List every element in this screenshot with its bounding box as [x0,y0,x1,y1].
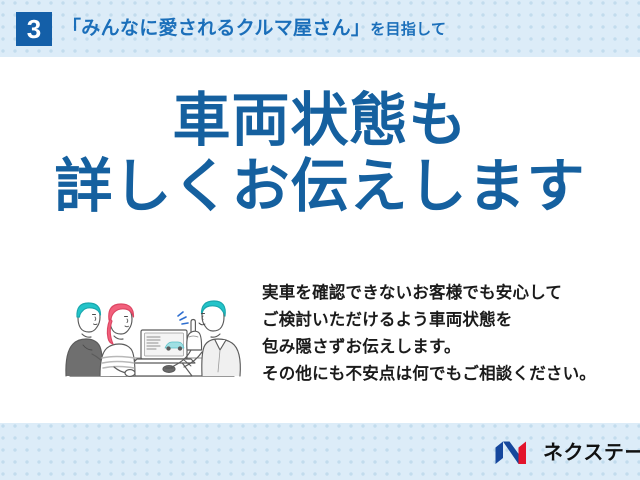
headline-line-1: 車両状態も [0,88,640,154]
lower-content: 実車を確認できないお客様でも安心して ご検討いただけるよう車両状態を 包み隠さず… [0,272,640,402]
header-title-main: 「みんなに愛されるクルマ屋さん」 [62,18,370,39]
section-number-badge: 3 [16,12,52,46]
nextage-n-mark-icon [494,440,536,466]
body-copy-line-2: ご検討いただけるよう車両状態を [262,307,622,334]
header-title-suffix: を目指して [370,21,446,38]
promo-banner: 3 「みんなに愛されるクルマ屋さん」を目指して 車両状態も 詳しくお伝えします [0,0,640,480]
headline-line-2: 詳しくお伝えします [0,154,640,220]
body-copy: 実車を確認できないお客様でも安心して ご検討いただけるよう車両状態を 包み隠さず… [262,280,622,388]
brand-logo: ネクステージ [494,436,640,470]
body-copy-line-1: 実車を確認できないお客様でも安心して [262,280,622,307]
brand-logo-text: ネクステージ [543,440,640,466]
header-title: 「みんなに愛されるクルマ屋さん」を目指して [62,13,446,45]
body-copy-line-4: その他にも不安点は何でもご相談ください。 [262,361,622,388]
body-copy-line-3: 包み隠さずお伝えします。 [262,334,622,361]
consultation-illustration [52,272,252,387]
headline-block: 車両状態も 詳しくお伝えします [0,88,640,220]
